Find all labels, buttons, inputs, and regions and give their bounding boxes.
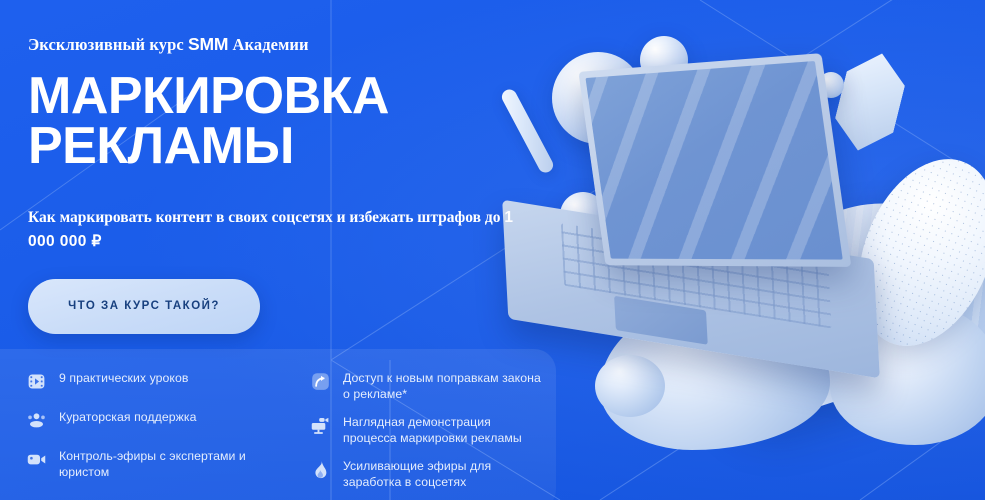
laptop-lid [578, 53, 851, 267]
eyebrow-text: Эксклюзивный курс SMM Академии [28, 34, 548, 55]
curved-arrow-icon [310, 371, 331, 392]
subtitle-text: Как маркировать контент в своих соцсетях… [28, 209, 504, 226]
hero-banner: Эксклюзивный курс SMM Академии МАРКИРОВК… [0, 0, 985, 500]
flame-icon [310, 459, 331, 480]
feature-label: Кураторская поддержка [59, 410, 197, 426]
feature-label: Наглядная демонстрация процесса маркиров… [343, 415, 542, 447]
eyebrow-suffix: Академии [228, 35, 308, 54]
eyebrow-prefix: Эксклюзивный курс [28, 35, 188, 54]
features-column-right: Доступ к новым поправкам закона о реклам… [310, 371, 542, 500]
people-icon [26, 410, 47, 431]
laptop-illustration [505, 62, 905, 352]
feature-item: Усиливающие эфиры для заработка в соцсет… [310, 459, 542, 491]
feature-label: 9 практических уроков [59, 371, 188, 387]
feature-item: Доступ к новым поправкам закона о реклам… [310, 371, 542, 403]
hero-subtitle: Как маркировать контент в своих соцсетях… [28, 206, 528, 254]
feature-label: Контроль-эфиры с экспертами и юристом [59, 449, 294, 481]
video-camera-icon [26, 449, 47, 470]
feature-item: Наглядная демонстрация процесса маркиров… [310, 415, 542, 447]
feature-label: Усиливающие эфиры для заработка в соцсет… [343, 459, 542, 491]
hero-copy: Эксклюзивный курс SMM Академии МАРКИРОВК… [28, 0, 548, 334]
features-column-left: 9 практических уроков Кураторская поддер… [26, 371, 294, 500]
feature-item: Кураторская поддержка [26, 410, 294, 431]
what-is-the-course-button[interactable]: ЧТО ЗА КУРС ТАКОЙ? [28, 279, 260, 334]
laptop-screen [585, 61, 842, 260]
film-icon [26, 371, 47, 392]
monitor-webcam-icon [310, 415, 331, 436]
headline-line-2: РЕКЛАМЫ [28, 121, 548, 171]
blob-small-bottom-left [595, 355, 665, 417]
page-title: МАРКИРОВКА РЕКЛАМЫ [28, 71, 548, 172]
feature-item: Контроль-эфиры с экспертами и юристом [26, 449, 294, 481]
features-panel: 9 практических уроков Кураторская поддер… [0, 349, 556, 500]
feature-item: 9 практических уроков [26, 371, 294, 392]
headline-line-1: МАРКИРОВКА [28, 71, 548, 121]
eyebrow-brand-mark: SMM [188, 34, 228, 54]
feature-label: Доступ к новым поправкам закона о реклам… [343, 371, 542, 403]
